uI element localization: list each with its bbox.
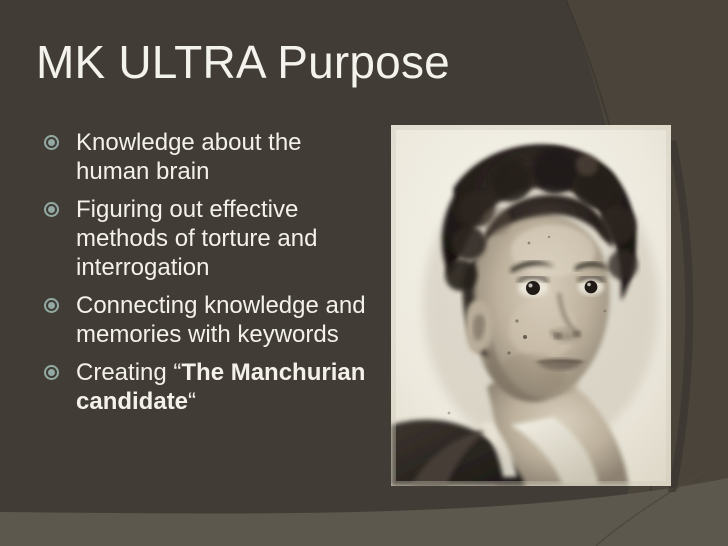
list-item-label: Figuring out effective methods of tortur… <box>76 195 372 282</box>
background-photo-shadow <box>668 140 693 492</box>
list-item-label: Connecting knowledge and memories with k… <box>76 291 372 349</box>
ring-dot-icon <box>44 365 59 380</box>
list-item: Creating “The Manchurian candidate“ <box>42 358 372 416</box>
list-item: Figuring out effective methods of tortur… <box>42 195 372 282</box>
background-bottom-band <box>0 478 728 546</box>
list-item-prefix: Creating “ <box>76 359 181 386</box>
ring-dot-icon <box>44 135 59 150</box>
list-item: Knowledge about the human brain <box>42 128 372 186</box>
portrait-photo <box>391 125 671 486</box>
list-item-label: Knowledge about the human brain <box>76 128 372 186</box>
portrait-photo-image <box>391 125 671 486</box>
bullet-list: Knowledge about the human brain Figuring… <box>42 128 372 425</box>
list-item-label: Creating “The Manchurian candidate“ <box>76 358 372 416</box>
list-item-suffix: “ <box>188 388 196 415</box>
list-item: Connecting knowledge and memories with k… <box>42 291 372 349</box>
ring-dot-icon <box>44 202 59 217</box>
slide-title: MK ULTRA Purpose <box>36 34 676 90</box>
presentation-slide: MK ULTRA Purpose Knowledge about the hum… <box>0 0 728 546</box>
ring-dot-icon <box>44 298 59 313</box>
